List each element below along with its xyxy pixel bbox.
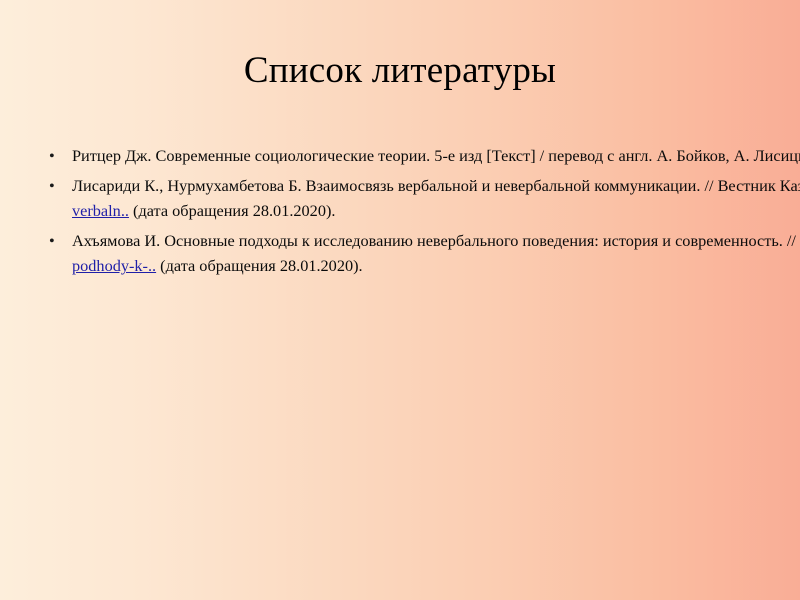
reference-text-run: (дата обращения 28.01.2020). — [129, 201, 336, 220]
reference-text: Ахъямова И. Основные подходы к исследова… — [72, 228, 760, 279]
bullet-icon: • — [49, 173, 63, 199]
list-item: • Ритцер Дж. Современные социологические… — [44, 143, 760, 169]
bullet-icon: • — [49, 143, 63, 169]
reference-text: Лисариди К., Нурмухамбетова Б. Взаимосвя… — [72, 173, 760, 224]
page-title: Список литературы — [0, 48, 800, 94]
reference-text-run: Ритцер Дж. Современные социологические т… — [72, 146, 800, 165]
bullet-icon: • — [49, 228, 63, 254]
reference-list: • Ритцер Дж. Современные социологические… — [44, 143, 760, 283]
reference-text-run: Лисариди К., Нурмухамбетова Б. Взаимосвя… — [72, 176, 800, 195]
reference-text-run: Ахъямова И. Основные подходы к исследова… — [72, 231, 800, 250]
list-item: • Лисариди К., Нурмухамбетова Б. Взаимос… — [44, 173, 760, 224]
reference-text-run: (дата обращения 28.01.2020). — [156, 256, 363, 275]
list-item: • Ахъямова И. Основные подходы к исследо… — [44, 228, 760, 279]
slide-canvas: Список литературы • Ритцер Дж. Современн… — [0, 0, 800, 600]
reference-text: Ритцер Дж. Современные социологические т… — [72, 143, 760, 169]
